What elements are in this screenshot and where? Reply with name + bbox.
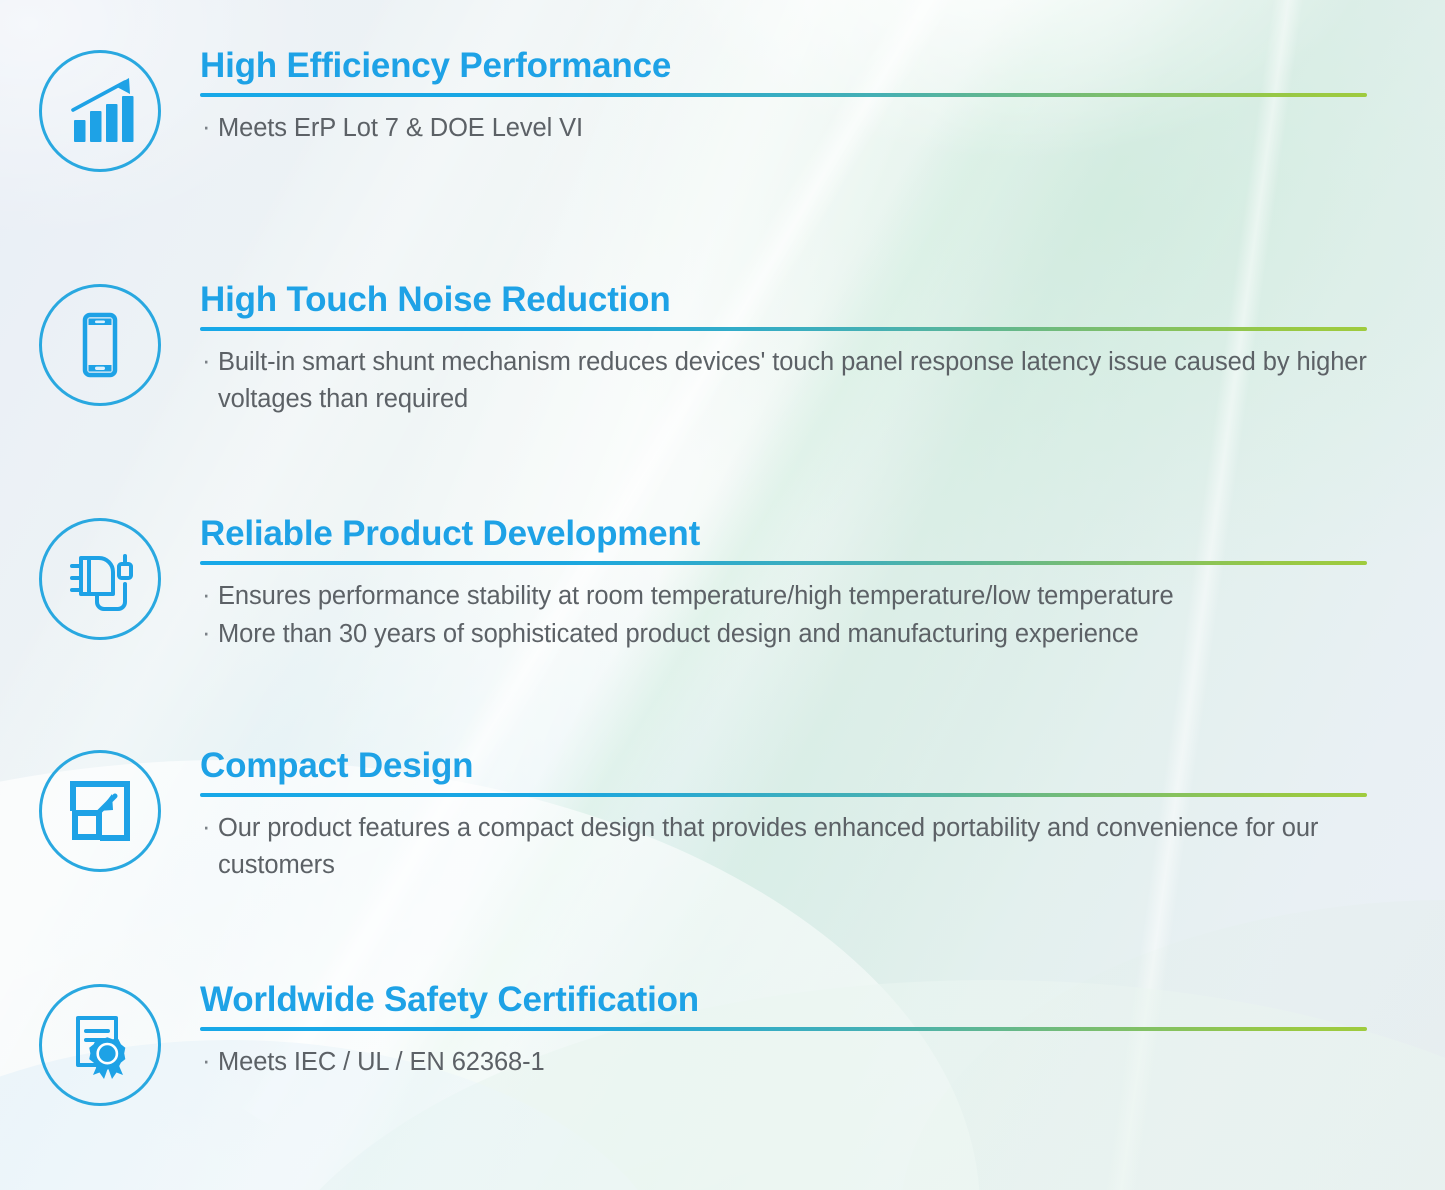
feature-bullets: Built-in smart shunt mechanism reduces d… — [200, 344, 1367, 418]
feature-item-reliable-product-development: Reliable Product Development Ensures per… — [0, 516, 1445, 654]
feature-item-high-efficiency-performance: High Efficiency Performance Meets ErP Lo… — [0, 48, 1445, 172]
feature-body: High Touch Noise Reduction Built-in smar… — [200, 282, 1445, 419]
certificate-seal-icon — [39, 984, 161, 1106]
feature-icon-wrapper — [0, 48, 200, 172]
feature-title: Compact Design — [200, 748, 1367, 785]
feature-bullets: Meets IEC / UL / EN 62368-1 — [200, 1044, 1367, 1081]
feature-item-high-touch-noise-reduction: High Touch Noise Reduction Built-in smar… — [0, 282, 1445, 419]
feature-divider — [200, 561, 1367, 565]
power-adapter-icon — [39, 518, 161, 640]
feature-highlights-page: High Efficiency Performance Meets ErP Lo… — [0, 0, 1445, 1190]
smartphone-icon — [39, 284, 161, 406]
bar-chart-growth-icon — [39, 50, 161, 172]
feature-divider — [200, 793, 1367, 797]
feature-divider — [200, 93, 1367, 97]
feature-divider — [200, 327, 1367, 331]
feature-item-worldwide-safety-certification: Worldwide Safety Certification Meets IEC… — [0, 982, 1445, 1106]
feature-item-compact-design: Compact Design Our product features a co… — [0, 748, 1445, 885]
feature-title: High Touch Noise Reduction — [200, 282, 1367, 319]
list-item: Ensures performance stability at room te… — [200, 578, 1367, 615]
feature-icon-wrapper — [0, 282, 200, 406]
feature-body: Worldwide Safety Certification Meets IEC… — [200, 982, 1445, 1082]
feature-body: Compact Design Our product features a co… — [200, 748, 1445, 885]
list-item: Our product features a compact design th… — [200, 810, 1367, 884]
feature-icon-wrapper — [0, 748, 200, 872]
feature-body: High Efficiency Performance Meets ErP Lo… — [200, 48, 1445, 148]
feature-title: High Efficiency Performance — [200, 48, 1367, 85]
feature-icon-wrapper — [0, 516, 200, 640]
feature-bullets: Our product features a compact design th… — [200, 810, 1367, 884]
list-item: More than 30 years of sophisticated prod… — [200, 616, 1367, 653]
feature-bullets: Meets ErP Lot 7 & DOE Level VI — [200, 110, 1367, 147]
feature-title: Worldwide Safety Certification — [200, 982, 1367, 1019]
compact-resize-icon — [39, 750, 161, 872]
feature-icon-wrapper — [0, 982, 200, 1106]
feature-divider — [200, 1027, 1367, 1031]
list-item: Meets ErP Lot 7 & DOE Level VI — [200, 110, 1367, 147]
list-item: Meets IEC / UL / EN 62368-1 — [200, 1044, 1367, 1081]
list-item: Built-in smart shunt mechanism reduces d… — [200, 344, 1367, 418]
feature-body: Reliable Product Development Ensures per… — [200, 516, 1445, 654]
feature-title: Reliable Product Development — [200, 516, 1367, 553]
feature-bullets: Ensures performance stability at room te… — [200, 578, 1367, 653]
